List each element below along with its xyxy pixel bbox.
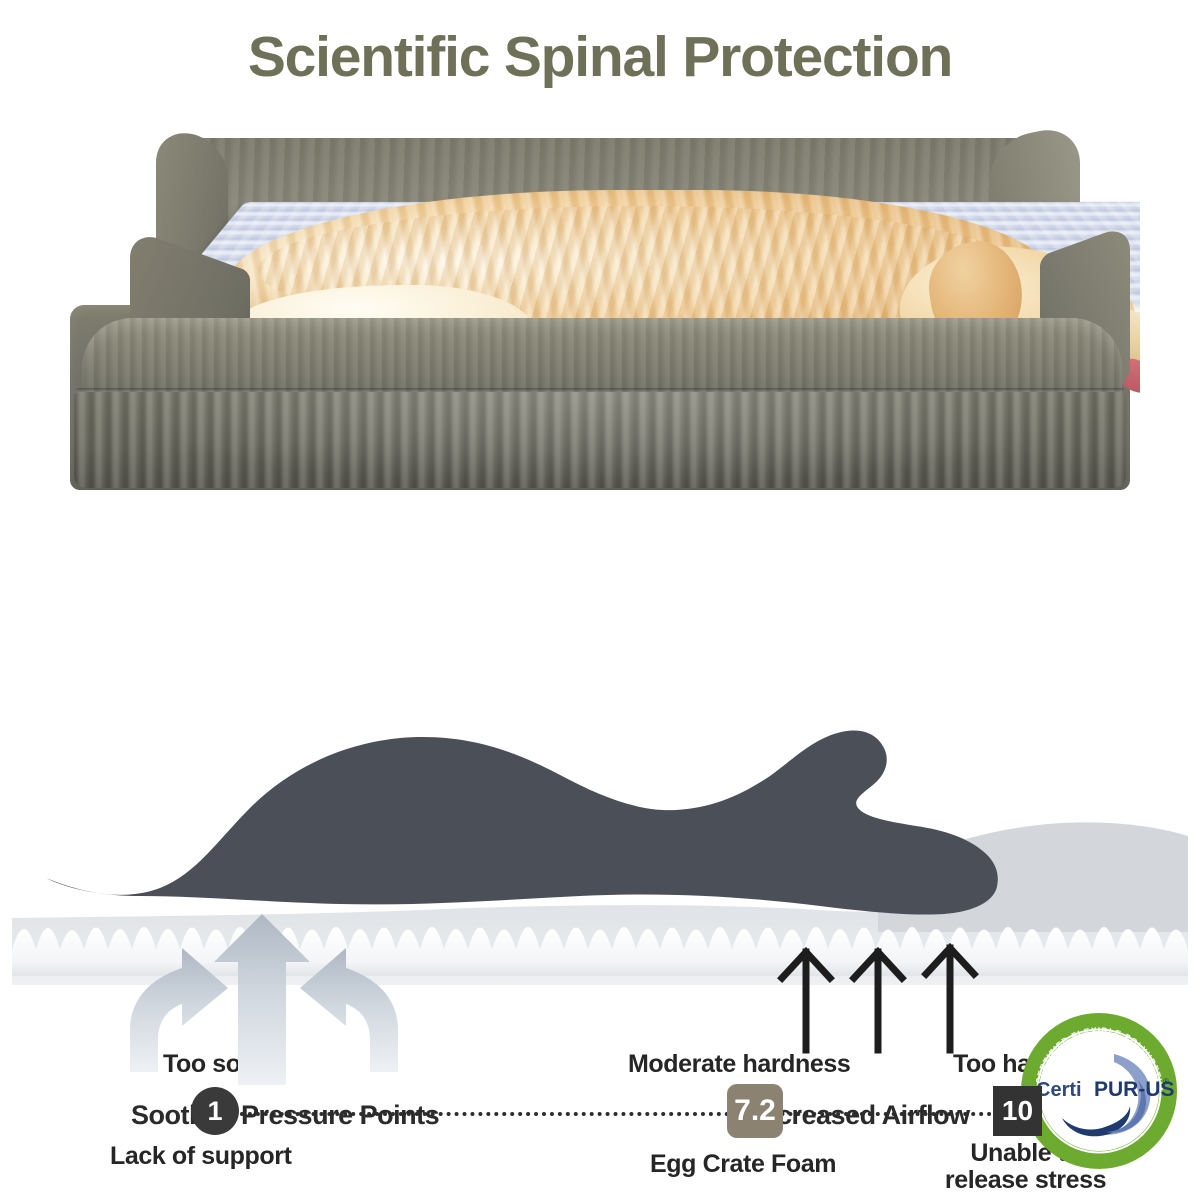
scale-sublabel-egg-crate-foam: Egg Crate Foam xyxy=(650,1150,836,1179)
infographic-page: Scientific Spinal Protection Too soft 1 … xyxy=(0,0,1200,1200)
hardness-scale: Too soft 1 Lack of support Moderate hard… xyxy=(0,520,1200,690)
scale-badge-7-2: 7.2 xyxy=(727,1084,783,1138)
product-photo xyxy=(60,130,1140,490)
page-title: Scientific Spinal Protection xyxy=(0,24,1200,90)
airflow-arrow-3 xyxy=(926,948,974,1050)
caption-increased-airflow: Increased Airflow xyxy=(754,1100,970,1131)
airflow-arrow-1 xyxy=(782,952,830,1050)
dog-silhouette xyxy=(46,730,998,914)
scale-badge-1: 1 xyxy=(191,1087,239,1135)
badge-registered-mark: ® xyxy=(1163,1077,1169,1086)
certipur-us-badge: CONTAINS CERTIFIED FLEXIBLE POLYURETHANE… xyxy=(1018,1010,1180,1172)
badge-wordmark-certi: Certi xyxy=(1036,1079,1082,1101)
caption-soothes-pressure-points: Soothes Pressure Points xyxy=(131,1100,439,1131)
scale-sublabel-lack-of-support: Lack of support xyxy=(110,1142,292,1171)
scale-badge-10: 10 xyxy=(993,1086,1042,1136)
airflow-arrow-2 xyxy=(854,952,902,1050)
dog-bed-quilted-base xyxy=(74,392,1126,488)
